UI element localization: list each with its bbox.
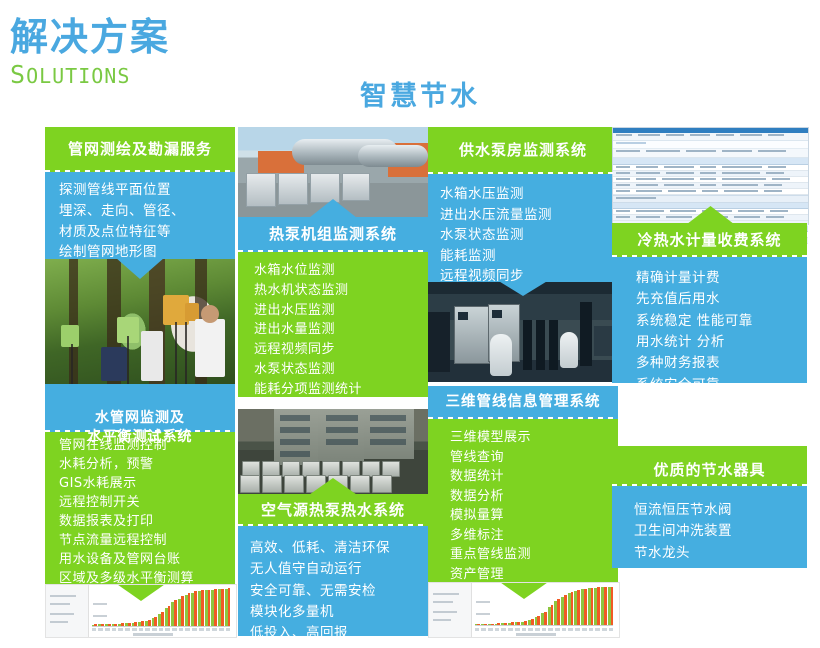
page-title: 解决方案 (10, 18, 170, 58)
chart-caption (133, 633, 173, 636)
card-air-source-hot-water-items: 高效、低耗、清洁环保 无人值守自动运行 安全可靠、无需安检 模块化多量机 低投入… (238, 526, 428, 636)
subtitle-initial: S (10, 60, 26, 89)
card-pump-room-monitor-title: 供水泵房监测系统 (428, 127, 618, 174)
chart-caption (516, 633, 556, 636)
software-toolbar (613, 141, 808, 149)
software-filter-row (613, 149, 808, 158)
card-air-source-hot-water[interactable]: 空气源热泵热水系统 高效、低耗、清洁环保 无人值守自动运行 安全可靠、无需安检 … (238, 494, 428, 636)
chart-bars (92, 588, 231, 625)
chart-x-tick-labels (92, 628, 231, 632)
chart-x-axis (475, 625, 614, 626)
chart-side-panel (429, 583, 472, 637)
photo-consumption-chart-left (45, 584, 237, 638)
dashed-separator (428, 172, 618, 174)
photo-billing-software (612, 127, 809, 225)
notch-down-blue (428, 282, 618, 296)
subtitle-rest: OLUTIONS (26, 64, 130, 88)
card-heat-pump-monitor[interactable]: 热泵机组监测系统 水箱水位监测 热水机状态监测 进出水压监测 进出水量监测 远程… (238, 217, 428, 397)
chart-side-panel (46, 585, 89, 637)
photo-heatpump-array (238, 409, 428, 494)
chart-plot-area (475, 586, 614, 625)
main-title: 智慧节水 (360, 74, 480, 113)
card-water-saving-devices-items: 恒流恒压节水阀 卫生间冲洗装置 节水龙头 (612, 486, 807, 568)
card-heat-pump-monitor-title: 热泵机组监测系统 (238, 217, 428, 252)
photo-rooftop-heatpump (238, 127, 428, 217)
page-subtitle-en: SOLUTIONS (10, 60, 170, 89)
card-pipeline-3d-info-items: 三维模型展示 管线查询 数据统计 数据分析 模拟量算 多维标注 重点管线监测 资… (428, 419, 618, 582)
card-pipeline-3d-info[interactable]: 三维管线信息管理系统 三维模型展示 管线查询 数据统计 数据分析 模拟量算 多维… (428, 386, 618, 582)
card-water-metering-billing-items: 精确计量计费 先充值后用水 系统稳定 性能可靠 用水统计 分析 多种财务报表 系… (612, 257, 807, 383)
photo-pump-room (428, 282, 618, 382)
dashed-separator (45, 170, 235, 172)
card-pump-room-monitor[interactable]: 供水泵房监测系统 水箱水压监测 进出水压流量监测 水泵状态监测 能耗监测 远程视… (428, 127, 618, 282)
slide-canvas: 解决方案 SOLUTIONS 智慧节水 管网测绘及勘漏服务 探测管线平面位置 埋… (0, 0, 820, 648)
header-block: 解决方案 SOLUTIONS (10, 18, 170, 89)
photo-surveyors (45, 259, 235, 384)
dashed-separator (612, 484, 807, 486)
card-pipeline-3d-info-title: 三维管线信息管理系统 (428, 386, 618, 419)
card-water-saving-devices-title: 优质的节水器具 (612, 446, 807, 486)
chart-plot-area (92, 588, 231, 625)
chart-x-axis (92, 626, 231, 627)
card-pipe-survey[interactable]: 管网测绘及勘漏服务 探测管线平面位置 埋深、走向、管径、 材质及点位特征等 绘制… (45, 127, 235, 259)
software-table-header (613, 158, 808, 165)
dashed-separator (238, 524, 428, 526)
card-water-saving-devices[interactable]: 优质的节水器具 恒流恒压节水阀 卫生间冲洗装置 节水龙头 (612, 446, 807, 568)
dashed-separator (238, 250, 428, 252)
dashed-separator (612, 255, 807, 257)
software-table-row (613, 189, 808, 195)
photo-consumption-chart-mid (428, 582, 620, 638)
card-air-source-hot-water-title: 空气源热泵热水系统 (238, 494, 428, 526)
dashed-separator (428, 417, 618, 419)
card-pipe-survey-title: 管网测绘及勘漏服务 (45, 127, 235, 172)
software-menu-bar (613, 133, 808, 141)
software-section-divider (613, 195, 808, 203)
dashed-separator (45, 430, 235, 432)
card-pipe-network-monitor-title: 水管网监测及 水平衡测试系统 (45, 384, 235, 432)
card-pipe-survey-items: 探测管线平面位置 埋深、走向、管径、 材质及点位特征等 绘制管网地形图 定位地下… (45, 172, 235, 259)
chart-x-tick-labels (475, 628, 614, 632)
card-pipe-network-monitor[interactable]: 水管网监测及 水平衡测试系统 管网在线监测控制 水耗分析，预警 GIS水耗展示 … (45, 384, 235, 584)
card-heat-pump-monitor-items: 水箱水位监测 热水机状态监测 进出水压监测 进出水量监测 远程视频同步 水泵状态… (238, 252, 428, 397)
card-pump-room-monitor-items: 水箱水压监测 进出水压流量监测 水泵状态监测 能耗监测 远程视频同步 (428, 174, 618, 282)
card-water-metering-billing[interactable]: 冷热水计量收费系统 精确计量计费 先充值后用水 系统稳定 性能可靠 用水统计 分… (612, 223, 807, 383)
card-water-metering-billing-title: 冷热水计量收费系统 (612, 223, 807, 257)
chart-bars (475, 586, 614, 625)
